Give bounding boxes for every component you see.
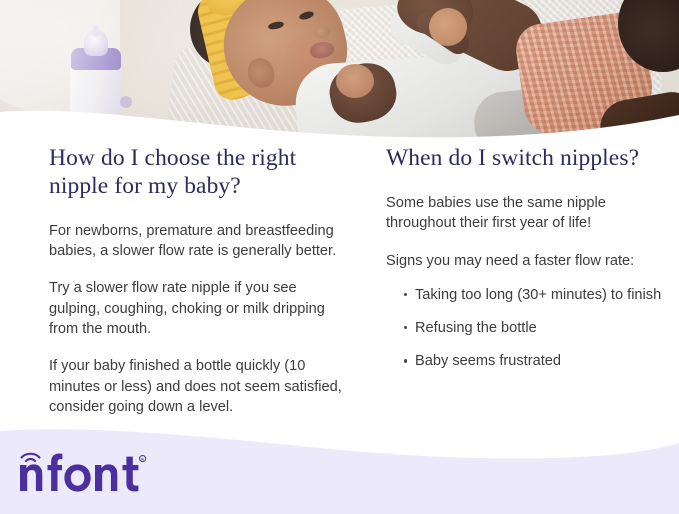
nfant-wordmark bbox=[20, 454, 138, 492]
nfant-logo[interactable]: R bbox=[18, 448, 168, 496]
paragraph-faster-flow-intro: Signs you may need a faster flow rate: bbox=[386, 251, 669, 271]
baby-bottle-nipple-tip bbox=[93, 25, 99, 37]
baby-nose bbox=[314, 26, 330, 38]
product-info-card: How do I choose the right nipple for my … bbox=[0, 0, 679, 514]
column-choosing-nipple: How do I choose the right nipple for my … bbox=[49, 145, 349, 417]
column-switching-nipples: When do I switch nipples? Some babies us… bbox=[386, 145, 669, 372]
heading-switch-nipples: When do I switch nipples? bbox=[386, 145, 669, 173]
paragraph-newborn-flow-rate: For newborns, premature and breastfeedin… bbox=[49, 221, 349, 262]
hero-wave-divider bbox=[0, 95, 679, 145]
baby-hand-lower bbox=[336, 64, 374, 98]
list-item: Refusing the bottle bbox=[386, 318, 669, 338]
hero-image bbox=[0, 0, 679, 145]
heading-choose-nipple: How do I choose the right nipple for my … bbox=[49, 145, 349, 201]
paragraph-same-nipple-first-year: Some babies use the same nipple througho… bbox=[386, 193, 669, 234]
registered-trademark-icon: R bbox=[140, 456, 146, 463]
paragraph-slower-flow-signs: Try a slower flow rate nipple if you see… bbox=[49, 278, 349, 339]
baby-hand-upper bbox=[429, 8, 467, 46]
paragraph-going-down-a-level: If your baby finished a bottle quickly (… bbox=[49, 356, 349, 417]
list-item: Taking too long (30+ minutes) to finish bbox=[386, 285, 669, 305]
wifi-signal-icon bbox=[22, 454, 40, 461]
faster-flow-signs-list: Taking too long (30+ minutes) to finish … bbox=[386, 285, 669, 372]
list-item: Baby seems frustrated bbox=[386, 351, 669, 371]
